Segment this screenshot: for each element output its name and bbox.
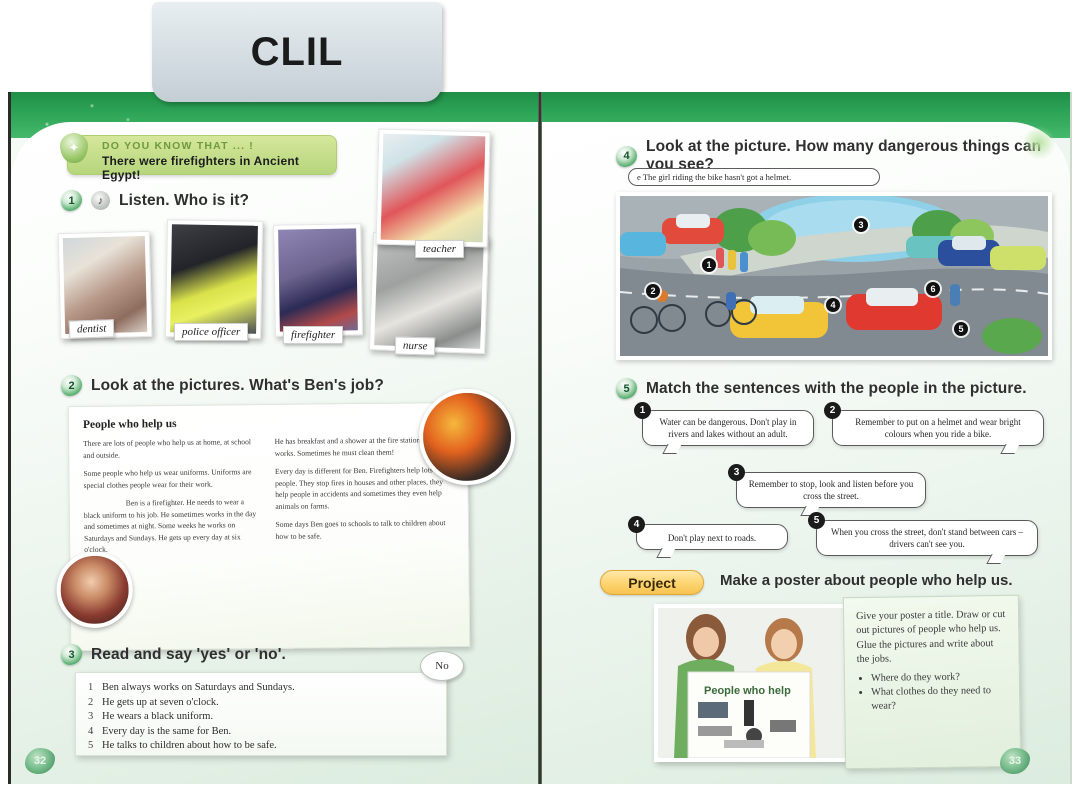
photo-teacher[interactable] — [376, 129, 491, 248]
right-page: 4 Look at the picture. How many dangerou… — [540, 92, 1072, 784]
picture-marker[interactable]: 5 — [954, 322, 968, 336]
list-item-number: 3 — [88, 710, 102, 725]
photo-police-officer[interactable] — [165, 219, 263, 339]
match-bubble-4-number: 4 — [628, 516, 645, 533]
list-item-text: Ben always works on Saturdays and Sunday… — [102, 682, 295, 693]
street-scene-image: 1 2 3 4 5 6 — [620, 196, 1048, 356]
clil-tab[interactable]: CLIL — [152, 2, 442, 102]
exercise-3-list: No 1Ben always works on Saturdays and Su… — [75, 672, 447, 756]
project-pill: Project — [600, 570, 704, 595]
photo-label-firefighter: firefighter — [283, 326, 343, 344]
photo-firefighter-image — [278, 228, 358, 331]
photo-label-dentist: dentist — [69, 319, 115, 339]
reading-paragraph: Some people who help us wear uniforms. U… — [83, 466, 262, 491]
reading-text-card: People who help us There are lots of peo… — [68, 402, 471, 651]
picture-marker[interactable]: 4 — [826, 298, 840, 312]
reading-paragraph: There are lots of people who help us at … — [83, 436, 262, 461]
list-item: 5He talks to children about how to be sa… — [88, 739, 434, 754]
reading-paragraph: Some days Ben goes to schools to talk to… — [275, 517, 454, 542]
exercise-4-number: 4 — [616, 146, 637, 167]
project-instruction: Make a poster about people who help us. — [720, 572, 1013, 589]
exercise-3-instruction: Read and say 'yes' or 'no'. — [91, 646, 286, 664]
did-you-know-text: There were firefighters in Ancient Egypt… — [102, 154, 328, 182]
photo-police-image — [170, 224, 258, 333]
match-bubble-2-text: Remember to put on a helmet and wear bri… — [855, 417, 1020, 439]
match-bubble-5-text: When you cross the street, don't stand b… — [831, 527, 1023, 549]
match-bubble-3-number: 3 — [728, 464, 745, 481]
list-item: 1Ben always works on Saturdays and Sunda… — [88, 681, 434, 696]
reading-paragraph: Ben is a firefighter. He needs to wear a… — [84, 496, 263, 555]
list-item: 2He gets up at seven o'clock. — [88, 696, 434, 711]
book-spine — [538, 92, 542, 784]
exercise-4-example-bubble: e The girl riding the bike hasn't got a … — [628, 168, 880, 186]
project-photo[interactable]: People who help — [654, 604, 850, 762]
exercise-5-instruction: Match the sentences with the people in t… — [646, 380, 1027, 398]
match-bubble-4[interactable]: 4 Don't play next to roads. — [636, 524, 788, 550]
exercise-2-number: 2 — [61, 375, 82, 396]
picture-marker[interactable]: 1 — [702, 258, 716, 272]
photo-label-teacher: teacher — [415, 240, 464, 258]
svg-text:People who help: People who help — [704, 685, 791, 697]
project-photo-image: People who help — [658, 608, 846, 758]
left-page: ✦ DO YOU KNOW THAT ... ! There were fire… — [8, 92, 540, 784]
match-bubble-5-number: 5 — [808, 512, 825, 529]
street-scene-picture[interactable]: 1 2 3 4 5 6 — [616, 192, 1052, 360]
match-bubble-3-text: Remember to stop, look and listen before… — [749, 479, 913, 501]
exercise-2-heading: 2 Look at the pictures. What's Ben's job… — [61, 375, 384, 396]
reading-title: People who help us — [83, 415, 453, 431]
answer-bubble-no: No — [420, 651, 464, 681]
exercise-5-number: 5 — [616, 378, 637, 399]
exercise-5-heading: 5 Match the sentences with the people in… — [616, 378, 1027, 399]
match-bubble-2-number: 2 — [824, 402, 841, 419]
list-item-number: 1 — [88, 681, 102, 696]
exercise-1-instruction: Listen. Who is it? — [119, 192, 249, 210]
picture-marker[interactable]: 2 — [646, 284, 660, 298]
reading-column-1: There are lots of people who help us at … — [83, 436, 263, 562]
shield-star-icon: ✦ — [60, 133, 88, 163]
match-bubble-1-text: Water can be dangerous. Don't play in ri… — [659, 417, 796, 439]
exercise-3-number: 3 — [61, 644, 82, 665]
exercise-1-heading: 1 ♪ Listen. Who is it? — [61, 190, 249, 211]
list-item-number: 4 — [88, 725, 102, 740]
photo-label-police-officer: police officer — [174, 323, 248, 341]
match-bubble-1[interactable]: 1 Water can be dangerous. Don't play in … — [642, 410, 814, 446]
reading-paragraph: Every day is different for Ben. Firefigh… — [275, 464, 454, 512]
match-bubble-2[interactable]: 2 Remember to put on a helmet and wear b… — [832, 410, 1044, 446]
picture-marker[interactable]: 6 — [926, 282, 940, 296]
worksheet-page: CLIL ✦ DO YOU KNOW THAT ... ! There were… — [0, 0, 1080, 788]
project-note-bullet: What clothes do they need to wear? — [871, 684, 1007, 715]
street-scene-svg — [620, 196, 1048, 356]
list-item-text: Every day is the same for Ben. — [102, 726, 231, 737]
photo-teacher-image — [381, 134, 486, 243]
match-bubble-4-text: Don't play next to roads. — [668, 533, 756, 543]
exercise-3-heading: 3 Read and say 'yes' or 'no'. — [61, 644, 286, 665]
project-photo-svg: People who help — [658, 608, 846, 758]
did-you-know-banner: ✦ DO YOU KNOW THAT ... ! There were fire… — [67, 135, 337, 175]
firefighter-photo-circle — [419, 388, 516, 485]
ben-photo-circle — [56, 551, 133, 628]
photo-label-nurse: nurse — [395, 336, 436, 355]
open-book: ✦ DO YOU KNOW THAT ... ! There were fire… — [8, 92, 1072, 784]
audio-cd-icon[interactable]: ♪ — [91, 191, 110, 210]
did-you-know-heading: DO YOU KNOW THAT ... ! — [102, 140, 328, 152]
list-item-number: 2 — [88, 696, 102, 711]
exercise-2-instruction: Look at the pictures. What's Ben's job? — [91, 377, 384, 395]
list-item-number: 5 — [88, 739, 102, 754]
list-item-text: He gets up at seven o'clock. — [102, 697, 219, 708]
project-note-text: Give your poster a title. Draw or cut ou… — [856, 608, 1007, 668]
clil-tab-label: CLIL — [251, 30, 344, 75]
list-item: 4Every day is the same for Ben. — [88, 725, 434, 740]
exercise-1-number: 1 — [61, 190, 82, 211]
project-note: Give your poster a title. Draw or cut ou… — [843, 595, 1021, 769]
list-item: 3He wears a black uniform. — [88, 710, 434, 725]
match-bubble-3[interactable]: 3 Remember to stop, look and listen befo… — [736, 472, 926, 508]
list-item-text: He talks to children about how to be saf… — [102, 740, 277, 751]
match-bubble-5[interactable]: 5 When you cross the street, don't stand… — [816, 520, 1038, 556]
leaf-sparkle-icon — [1022, 126, 1056, 160]
match-bubble-1-number: 1 — [634, 402, 651, 419]
photo-firefighter[interactable] — [273, 223, 363, 337]
list-item-text: He wears a black uniform. — [102, 711, 213, 722]
picture-marker[interactable]: 3 — [854, 218, 868, 232]
